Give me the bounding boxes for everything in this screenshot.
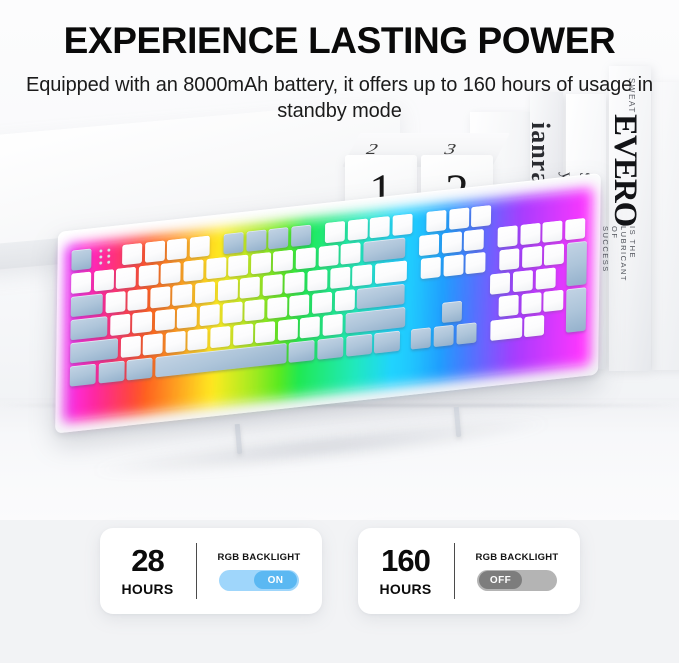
key-a: [110, 314, 130, 336]
key-numplus: [567, 241, 587, 286]
key-num5: [513, 270, 533, 292]
key-f1: [122, 243, 142, 265]
key-num0: [490, 317, 522, 341]
key-nummultiply: [543, 220, 563, 242]
key-f11: [370, 216, 390, 238]
hours-value: 160: [381, 545, 430, 576]
key-bracket-right: [352, 264, 372, 286]
key-num3: [543, 290, 563, 312]
key-semicolon: [312, 292, 332, 314]
key-quote: [334, 289, 354, 311]
page-subtitle: Equipped with an 8000mAh battery, it off…: [0, 72, 679, 125]
hours-value: 28: [131, 545, 163, 576]
key-x: [143, 333, 163, 355]
book-evero-subtitle: IS THE LUBRICANT OF SUCCESS: [601, 226, 637, 282]
key-c: [165, 331, 185, 353]
spec-card-rgb-on: 28 HOURS RGB BACKLIGHT ON: [100, 528, 322, 614]
battery-spec-cards: 28 HOURS RGB BACKLIGHT ON 160 HOURS RGB …: [0, 528, 679, 614]
key-f10: [347, 218, 367, 240]
key-z: [120, 336, 140, 358]
key-v: [188, 328, 208, 350]
key-pagedown: [465, 252, 485, 274]
key-b: [210, 326, 230, 348]
key-f4: [190, 236, 210, 258]
key-f6: [246, 229, 266, 251]
key-arrow-right: [456, 322, 476, 344]
key-f9: [325, 221, 345, 243]
key-minus: [318, 245, 338, 267]
key-h: [222, 302, 242, 324]
card-divider: [454, 543, 455, 599]
book-ianra-title: ianra: [525, 122, 555, 186]
key-0: [296, 247, 316, 269]
key-q: [105, 291, 125, 313]
key-delete: [421, 257, 441, 279]
key-d: [155, 309, 175, 331]
key-comma: [278, 319, 298, 341]
key-3: [138, 264, 158, 286]
key-s: [132, 311, 152, 333]
key-f5: [224, 232, 244, 254]
spec-card-toggle-block: RGB BACKLIGHT ON: [197, 552, 322, 591]
key-arrow-left: [411, 327, 431, 349]
key-num8: [522, 246, 542, 268]
key-num6: [535, 267, 555, 289]
key-bracket-left: [330, 267, 350, 289]
rgb-backlight-toggle-off[interactable]: OFF: [477, 570, 557, 591]
product-feature-banner: ianra ianra Something you like SWEAT EVE…: [0, 0, 679, 663]
key-l: [289, 294, 309, 316]
key-alt-right: [289, 340, 315, 363]
key-w: [128, 289, 148, 311]
key-8: [251, 252, 271, 274]
key-j: [245, 299, 265, 321]
headline-block: EXPERIENCE LASTING POWER Equipped with a…: [0, 22, 679, 125]
key-num7: [499, 248, 519, 270]
key-m: [255, 321, 275, 343]
key-tab: [71, 294, 103, 318]
hours-unit-label: HOURS: [379, 581, 431, 597]
key-5: [183, 259, 203, 281]
rgb-backlight-toggle-on[interactable]: ON: [219, 570, 299, 591]
hours-unit-label: HOURS: [121, 581, 173, 597]
key-period: [300, 316, 320, 338]
key-pageup: [464, 229, 484, 251]
keyboard-indicator-leds: [99, 248, 115, 266]
key-numminus: [565, 218, 585, 240]
key-arrow-down: [434, 325, 454, 347]
key-insert: [419, 234, 439, 256]
key-capslock: [70, 316, 107, 340]
spec-card-hours-block: 28 HOURS: [100, 545, 196, 597]
key-f7: [269, 227, 289, 249]
card-divider: [196, 543, 197, 599]
key-7: [228, 255, 248, 277]
key-4: [161, 262, 181, 284]
spec-card-rgb-off: 160 HOURS RGB BACKLIGHT OFF: [358, 528, 580, 614]
toggle-knob-label: OFF: [479, 571, 522, 589]
key-numenter: [566, 287, 586, 332]
key-f8: [291, 225, 311, 247]
key-n: [233, 323, 253, 345]
key-k: [267, 297, 287, 319]
rgb-backlight-label: RGB BACKLIGHT: [218, 552, 301, 563]
key-1: [93, 269, 113, 291]
key-r: [172, 284, 192, 306]
spec-card-hours-block: 160 HOURS: [358, 545, 454, 597]
key-6: [206, 257, 226, 279]
key-backslash: [375, 261, 407, 285]
book-evero-title: EVERO: [606, 114, 643, 226]
key-menu: [346, 334, 372, 357]
key-equal: [341, 242, 361, 264]
key-i: [262, 274, 282, 296]
key-u: [240, 276, 260, 298]
key-ctrl-left: [70, 364, 96, 387]
key-num4: [490, 272, 510, 294]
key-slash: [323, 314, 343, 336]
key-o: [285, 272, 305, 294]
key-ctrl-right: [374, 331, 400, 354]
spec-card-toggle-block: RGB BACKLIGHT OFF: [455, 552, 580, 591]
key-2: [116, 267, 136, 289]
key-scroll: [449, 207, 469, 229]
key-f2: [145, 241, 165, 263]
key-y: [217, 279, 237, 301]
page-title: EXPERIENCE LASTING POWER: [0, 22, 679, 59]
toggle-knob-label: ON: [254, 571, 297, 589]
book-far-right: [652, 82, 679, 370]
key-f3: [167, 238, 187, 260]
key-alt-left: [127, 358, 153, 381]
key-e: [150, 286, 170, 308]
key-end: [443, 254, 463, 276]
key-esc: [71, 248, 91, 270]
key-arrow-up: [442, 301, 462, 323]
key-numdivide: [520, 223, 540, 245]
rgb-backlight-label: RGB BACKLIGHT: [476, 552, 559, 563]
key-home: [441, 231, 461, 253]
key-num9: [544, 243, 564, 265]
key-g: [200, 304, 220, 326]
key-p: [307, 269, 327, 291]
key-backtick: [71, 272, 91, 294]
key-fn: [317, 337, 343, 360]
key-f: [177, 306, 197, 328]
key-9: [273, 250, 293, 272]
key-numperiod: [524, 315, 544, 337]
key-numlock: [498, 225, 518, 247]
key-win-left: [98, 361, 124, 384]
key-f12: [392, 214, 412, 236]
key-t: [195, 281, 215, 303]
key-num2: [521, 292, 541, 314]
key-print: [426, 210, 446, 232]
key-num1: [498, 295, 518, 317]
key-pause: [471, 205, 491, 227]
